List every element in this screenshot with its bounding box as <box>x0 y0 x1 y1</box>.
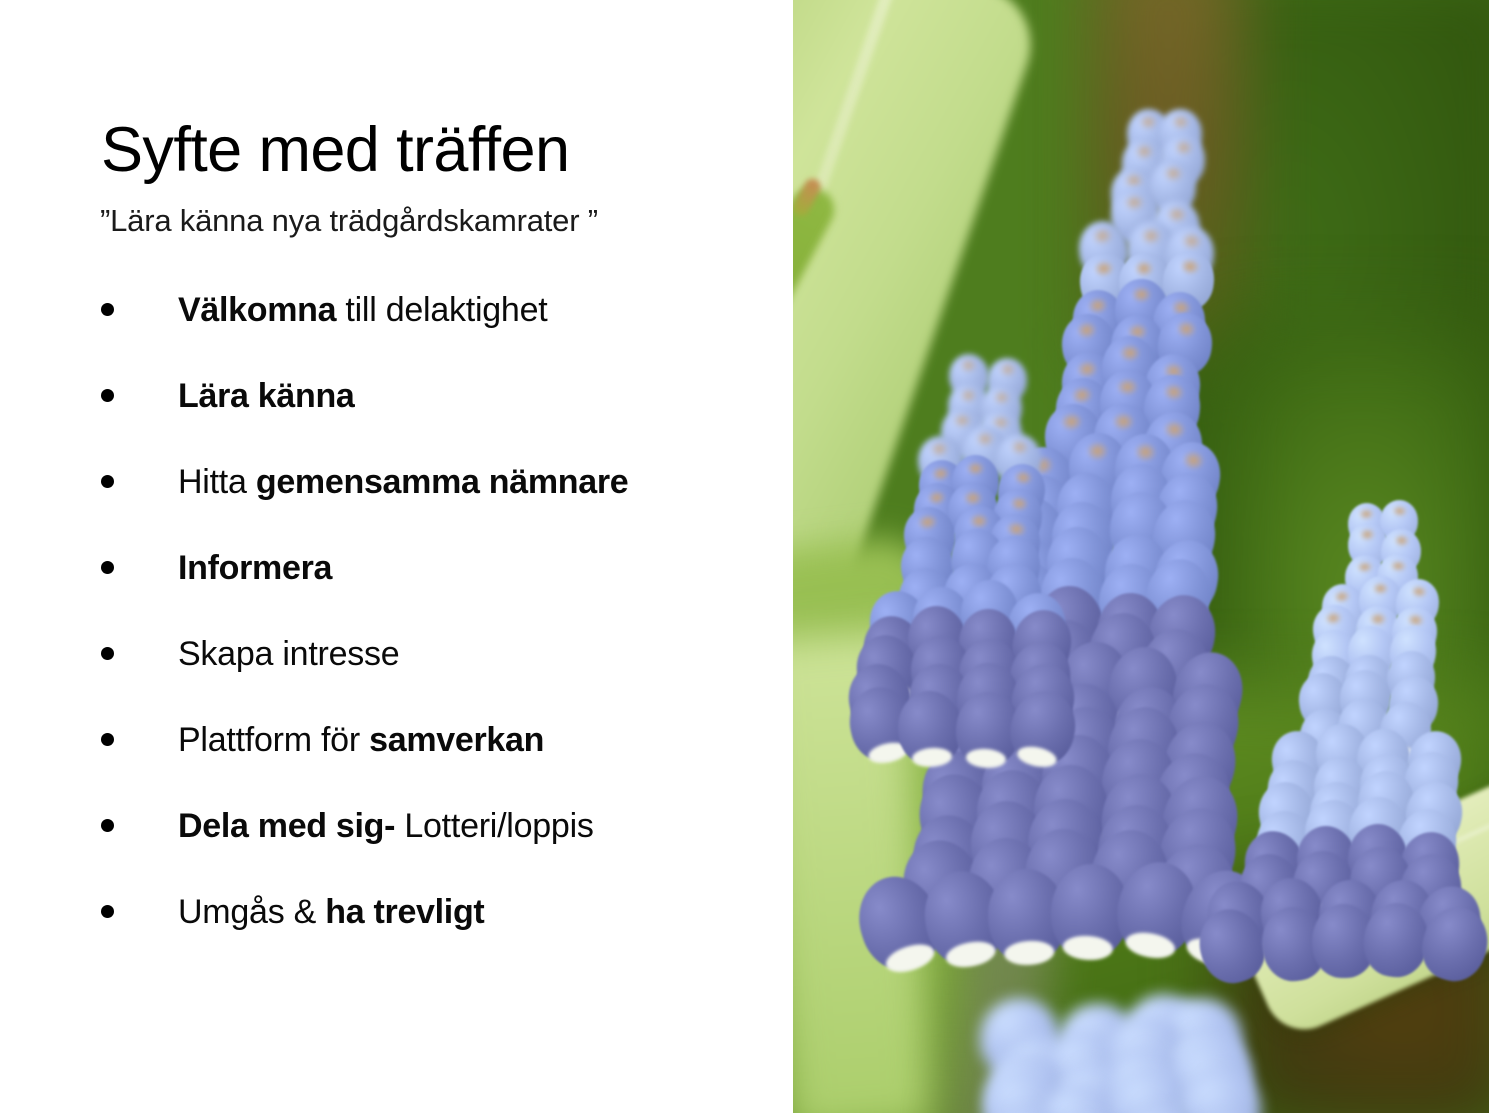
photo-flower-bud-tip <box>1356 560 1373 574</box>
bullet-text: Välkomna till delaktighet <box>178 288 547 332</box>
photo-flower-bud-tip <box>952 413 970 428</box>
photo-flower-bud-tip <box>1124 173 1144 189</box>
muscari-flower-photo <box>793 0 1489 1113</box>
photo-flower-bud-tip <box>966 461 985 476</box>
photo-flower-bud-tip <box>1141 228 1161 244</box>
slide-text-column: Syfte med träffen ”Lära känna nya trädgå… <box>0 0 793 1113</box>
photo-flower-bud-tip <box>1372 582 1389 595</box>
bullet-text: Informera <box>178 546 332 590</box>
bullet-dot-icon <box>101 647 114 660</box>
photo-flower-bud-tip <box>1332 588 1351 604</box>
bullet-dot-icon <box>101 561 114 574</box>
photo-flower-bud-tip <box>969 513 989 529</box>
bullet-tail: till delaktighet <box>336 291 547 329</box>
bullet-lead: Hitta <box>178 463 256 501</box>
bullet-tail: ha trevligt <box>325 893 484 931</box>
photo-flower-bud-tip <box>1163 166 1183 182</box>
list-item: Välkomna till delaktighet <box>0 288 793 374</box>
photo-flower-bud-tip <box>1359 527 1376 540</box>
photo-flower-bud-tip <box>1162 419 1187 441</box>
page-title: Syfte med träffen <box>101 114 569 186</box>
list-item: Lära känna <box>0 374 793 460</box>
photo-flower-bud-tip <box>1410 584 1429 600</box>
photo-flower-bud-tip <box>1070 385 1095 406</box>
photo-flower-bud-tip <box>1075 320 1098 340</box>
photo-flower-bud-tip <box>1358 508 1374 521</box>
photo-flower-bud-tip <box>993 390 1011 404</box>
list-item: Informera <box>0 546 793 632</box>
list-item: Umgås & ha trevligt <box>0 890 793 976</box>
bullet-tail: Lotteri/loppis <box>395 807 593 845</box>
photo-flower-bud-tip <box>1119 344 1141 362</box>
bullet-lead: Plattform för <box>178 721 369 759</box>
bullet-text: Skapa intresse <box>178 632 399 676</box>
bullet-lead: Lära känna <box>178 377 355 415</box>
bullet-dot-icon <box>101 905 114 918</box>
bullet-dot-icon <box>101 733 114 746</box>
photo-flower-bud-tip <box>1167 206 1187 223</box>
photo-flower-bud-tip <box>1175 319 1198 339</box>
bullet-text: Umgås & ha trevligt <box>178 890 484 934</box>
photo-flower-bud-tip <box>1180 232 1202 250</box>
photo-flower-bud-tip <box>1179 257 1201 276</box>
page-subtitle: ”Lära känna nya trädgårdskamrater ” <box>100 201 598 241</box>
bullet-lead: Skapa intresse <box>178 635 399 673</box>
photo-flower-bud-tip <box>1076 359 1100 379</box>
photo-flower-bud-tip <box>1324 610 1344 626</box>
photo-flower-bud-tip <box>1172 115 1190 130</box>
bullet-dot-icon <box>101 819 114 832</box>
photo-flower-bud-tip <box>1124 194 1144 211</box>
photo-flower-bud-tip <box>1116 378 1138 396</box>
photo-flower-bud-tip <box>1085 440 1110 461</box>
bullet-text: Lära känna <box>178 374 355 418</box>
list-item: Plattform för samverkan <box>0 718 793 804</box>
photo-flower-bud-tip <box>1131 286 1152 303</box>
photo-flower-bud-tip <box>1013 469 1034 486</box>
photo-flower-bud-tip <box>1135 143 1154 159</box>
photo-flower-bud-tip <box>976 432 994 446</box>
photo-flower-bud-tip <box>916 513 938 532</box>
photo-flower-bud-tip <box>1139 115 1157 130</box>
photo-flower-bud-tip <box>1112 412 1135 431</box>
bullet-text: Plattform för samverkan <box>178 718 544 762</box>
photo-flower-bud-tip <box>1133 441 1158 462</box>
list-item: Skapa intresse <box>0 632 793 718</box>
bullet-dot-icon <box>101 303 114 316</box>
photo-flower-bud-tip <box>963 490 983 506</box>
photo-flower-bud-tip <box>1369 612 1387 626</box>
bullet-lead: Umgås & <box>178 893 325 931</box>
photo-flower-bud-tip <box>1060 410 1085 432</box>
photo-flower-bud-tip <box>1010 439 1030 456</box>
bullet-lead: Välkomna <box>178 291 336 329</box>
photo-flower-bud-tip <box>1392 504 1408 517</box>
photo-flower-bud-tip <box>1394 534 1411 547</box>
photo-flower-bud-tip <box>1093 259 1115 278</box>
photo-flower-bud-tip <box>1091 227 1113 245</box>
bullet-dot-icon <box>101 475 114 488</box>
photo-flower-bud-tip <box>1134 260 1154 276</box>
photo-flower-bud-tip <box>1390 559 1407 573</box>
bullet-text: Hitta gemensamma nämnare <box>178 460 628 504</box>
photo-flower-bud-tip <box>926 488 948 506</box>
bullet-list: Välkomna till delaktighet Lära känna Hit… <box>0 288 793 976</box>
bullet-dot-icon <box>101 389 114 402</box>
photo-flower-bud-tip <box>1086 296 1109 315</box>
list-item: Dela med sig- Lotteri/loppis <box>0 804 793 890</box>
photo-flower-bud-tip <box>1180 448 1207 471</box>
photo-flower-bud-tip <box>930 465 951 482</box>
photo-flower-bud-tip <box>929 441 949 458</box>
bullet-tail: samverkan <box>369 721 544 759</box>
photo-flower-bud-tip <box>1000 363 1017 376</box>
bullet-lead: Informera <box>178 549 332 587</box>
bullet-tail: gemensamma nämnare <box>256 463 629 501</box>
photo-flower-bud-tip <box>960 359 977 372</box>
bullet-text: Dela med sig- Lotteri/loppis <box>178 804 594 848</box>
photo-flower-bud-tip <box>959 388 977 402</box>
photo-flower-bud-tip <box>1174 140 1193 156</box>
photo-flower-bud-tip <box>1162 382 1187 403</box>
bullet-lead: Dela med sig- <box>178 807 395 845</box>
presentation-slide: Syfte med träffen ”Lära känna nya trädgå… <box>0 0 1489 1113</box>
photo-flower-bud-tip <box>1009 494 1031 512</box>
list-item: Hitta gemensamma nämnare <box>0 460 793 546</box>
